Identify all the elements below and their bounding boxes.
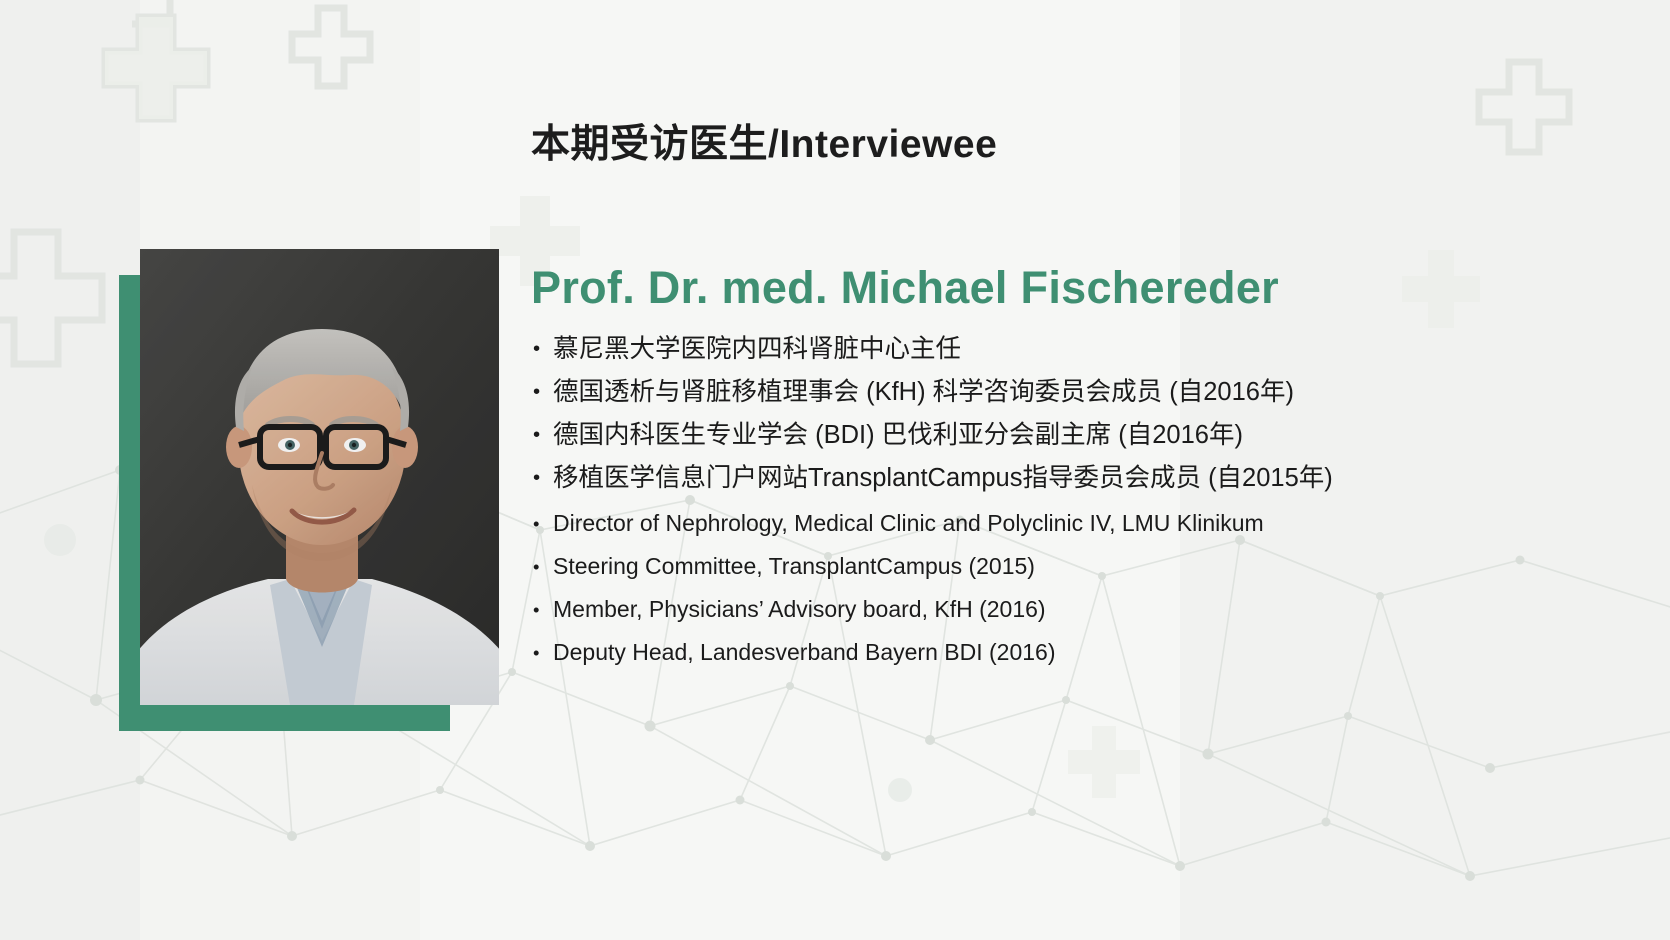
credential-item: Member, Physicians’ Advisory board, KfH … — [531, 588, 1641, 631]
credential-item: 慕尼黑大学医院内四科肾脏中心主任 — [531, 328, 1641, 371]
slide-root: 本期受访医生/Interviewee — [0, 0, 1670, 940]
doctor-name: Prof. Dr. med. Michael Fischereder — [531, 262, 1641, 314]
credentials-list-chinese: 慕尼黑大学医院内四科肾脏中心主任 德国透析与肾脏移植理事会 (KfH) 科学咨询… — [531, 328, 1641, 500]
profile-text-block: Prof. Dr. med. Michael Fischereder 慕尼黑大学… — [531, 262, 1641, 674]
credentials-list-english: Director of Nephrology, Medical Clinic a… — [531, 502, 1641, 674]
credential-item: 德国透析与肾脏移植理事会 (KfH) 科学咨询委员会成员 (自2016年) — [531, 371, 1641, 414]
credential-item: 德国内科医生专业学会 (BDI) 巴伐利亚分会副主席 (自2016年) — [531, 414, 1641, 457]
portrait-illustration — [140, 249, 499, 705]
credential-item: Deputy Head, Landesverband Bayern BDI (2… — [531, 631, 1641, 674]
portrait-block — [119, 249, 499, 731]
portrait-photo — [140, 249, 499, 705]
credential-item: 移植医学信息门户网站TransplantCampus指导委员会成员 (自2015… — [531, 457, 1641, 500]
page-title: 本期受访医生/Interviewee — [531, 113, 997, 169]
credential-item: Steering Committee, TransplantCampus (20… — [531, 545, 1641, 588]
credential-item: Director of Nephrology, Medical Clinic a… — [531, 502, 1641, 545]
